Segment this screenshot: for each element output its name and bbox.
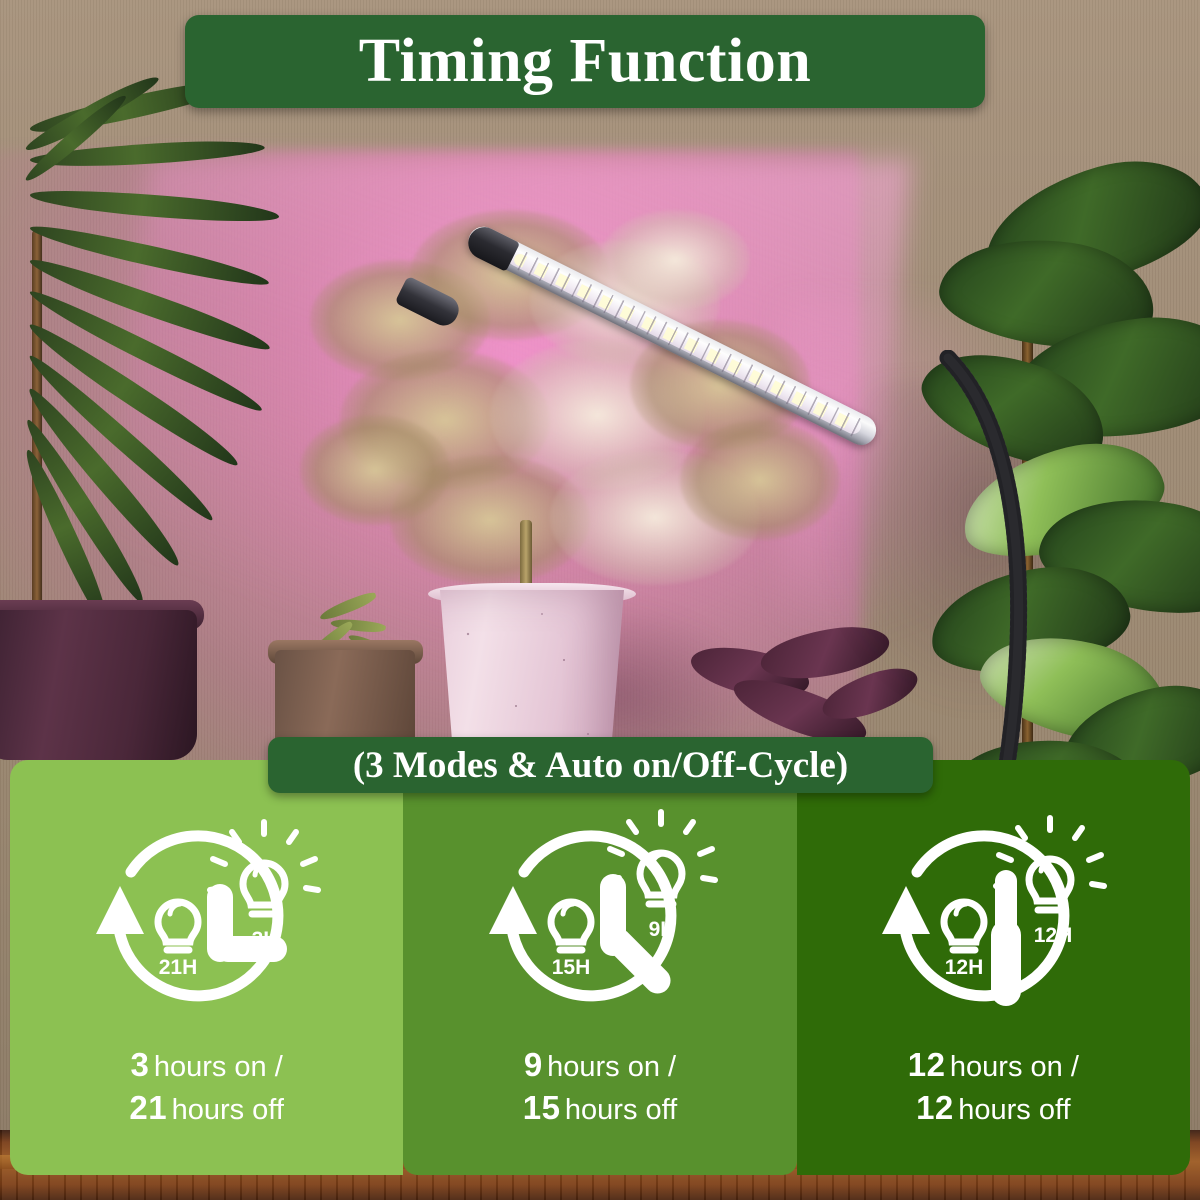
clock-hands-icon — [991, 870, 1021, 1006]
mode-panel-3h[interactable]: 21H — [10, 760, 403, 1175]
caption-num-on-12h: 12 — [908, 1046, 946, 1083]
timer-cycle-icon-9h: 15H — [480, 808, 720, 1036]
bulb-off-label-9h: 15H — [552, 956, 591, 979]
plant-left — [0, 110, 300, 670]
mode-panel-12h[interactable]: 12H — [797, 760, 1190, 1175]
caption-rest-off-12h: hours off — [958, 1094, 1070, 1126]
led-grow-light-bar — [470, 128, 940, 363]
caption-rest-off-3h: hours off — [172, 1094, 284, 1126]
bulb-on-label-9h: 9H — [649, 918, 676, 941]
pot-left — [0, 610, 197, 760]
page-title-banner: Timing Function — [185, 15, 985, 108]
caption-num-off-3h: 21 — [129, 1089, 167, 1126]
subtitle-banner: (3 Modes & Auto on/Off-Cycle) — [268, 737, 933, 793]
timer-cycle-icon-3h: 21H — [87, 808, 327, 1036]
page-title: Timing Function — [359, 26, 812, 97]
mode-panel-9h[interactable]: 15H — [403, 760, 796, 1175]
timing-modes-row: 21H — [10, 760, 1190, 1175]
bulb-off-icon — [944, 902, 984, 950]
infographic-page: Timing Function 21H — [0, 0, 1200, 1200]
subtitle-text: (3 Modes & Auto on/Off-Cycle) — [353, 744, 848, 787]
bulb-off-label-3h: 21H — [158, 956, 197, 979]
caption-num-on-9h: 9 — [524, 1046, 543, 1083]
circular-arrow-head — [489, 886, 537, 934]
caption-rest-on-9h: hours on / — [547, 1051, 676, 1083]
mode-caption-9h: 9 hours on / 15 hours off — [523, 1044, 678, 1130]
bulb-off-icon — [551, 902, 591, 950]
caption-num-on-3h: 3 — [131, 1046, 150, 1083]
caption-num-off-9h: 15 — [523, 1089, 561, 1126]
caption-rest-off-9h: hours off — [565, 1094, 677, 1126]
circular-arrow-head — [882, 886, 930, 934]
bulb-on-label-12h: 12H — [1034, 924, 1073, 947]
mode-caption-12h: 12 hours on / 12 hours off — [908, 1044, 1079, 1130]
bulb-off-label-12h: 12H — [945, 956, 984, 979]
mode-caption-3h: 3 hours on / 21 hours off — [129, 1044, 284, 1130]
timer-cycle-icon-12h: 12H — [873, 808, 1113, 1036]
bulb-off-icon — [158, 902, 198, 950]
caption-rest-on-12h: hours on / — [950, 1051, 1079, 1083]
caption-num-off-12h: 12 — [916, 1089, 954, 1126]
circular-arrow-head — [96, 886, 144, 934]
caption-rest-on-3h: hours on / — [154, 1051, 283, 1083]
